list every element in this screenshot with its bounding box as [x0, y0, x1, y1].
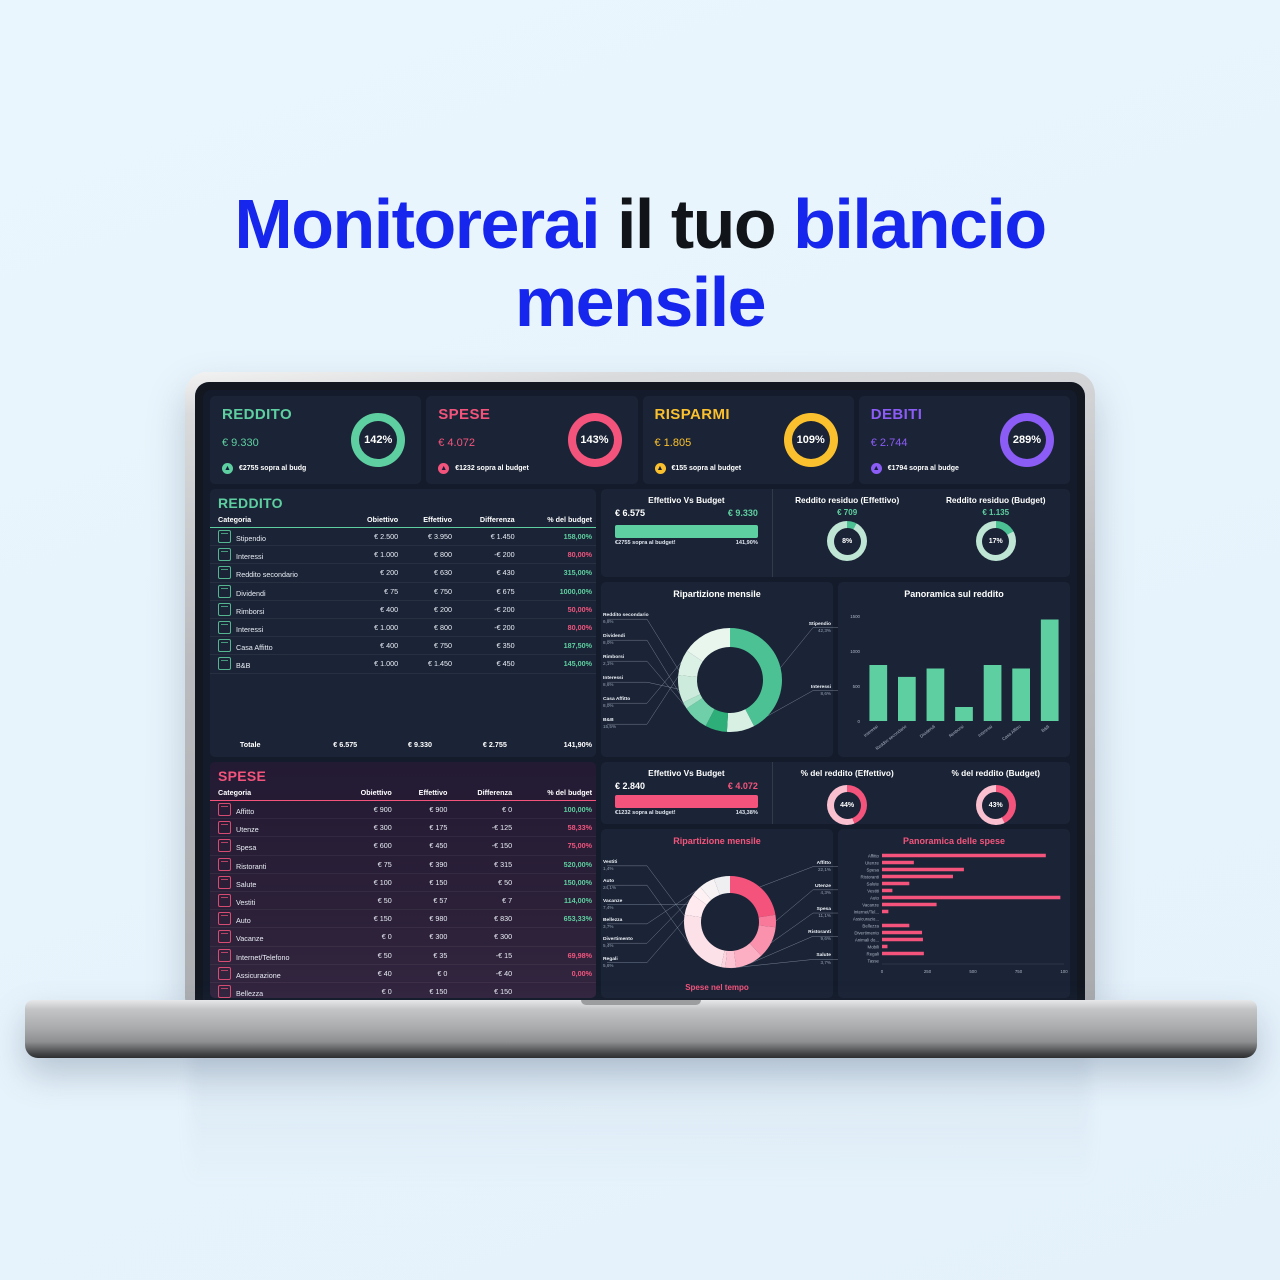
row-obiettivo: € 50: [336, 891, 395, 909]
laptop-lid: REDDITO€ 9.330▲€2755 sopra al budg142%SP…: [185, 372, 1095, 1004]
row-effettivo: € 1.450: [402, 655, 456, 673]
row-obiettivo: € 400: [345, 600, 402, 618]
category-icon: [218, 930, 231, 943]
row-category: Casa Affitto: [210, 637, 345, 655]
row-obiettivo: € 100: [336, 873, 395, 891]
row-differenza: -€ 40: [451, 964, 516, 982]
col-header: Differenza: [451, 786, 516, 801]
category-icon: [218, 949, 231, 962]
table-row[interactable]: Casa Affitto€ 400€ 750€ 350187,50%: [210, 637, 596, 655]
expense-section-title: SPESE: [210, 762, 596, 786]
arrow-up-icon: ▲: [871, 463, 882, 474]
residual-actual-donut: 8%: [827, 521, 867, 561]
row-differenza: € 7: [451, 891, 516, 909]
svg-text:Rimborsi: Rimborsi: [948, 724, 965, 739]
row-category: Auto: [210, 910, 336, 928]
row-category: Interessi: [210, 618, 345, 636]
category-icon: [218, 985, 231, 998]
kpi-donut: 289%: [1000, 413, 1054, 467]
row-effettivo: € 900: [396, 801, 452, 819]
income-bars-title: Panoramica sul reddito: [838, 582, 1070, 601]
pie-callout: Salute3,7%: [816, 953, 831, 965]
col-header: Obiettivo: [336, 786, 395, 801]
category-icon: [218, 821, 231, 834]
pie-callout: Vestiti1,4%: [603, 860, 617, 872]
total-differenza: € 2.755: [436, 738, 511, 751]
row-obiettivo: € 2.500: [345, 528, 402, 546]
row-differenza: -€ 200: [456, 618, 519, 636]
row-category: Reddito secondario: [210, 564, 345, 582]
row-effettivo: € 150: [396, 873, 452, 891]
kpi-card-risparmi[interactable]: RISPARMI€ 1.805▲€155 sopra al budget109%: [643, 396, 854, 484]
table-row[interactable]: Vacanze€ 0€ 300€ 300: [210, 928, 596, 946]
row-effettivo: € 750: [402, 637, 456, 655]
total-percent: 141,90%: [511, 738, 596, 751]
arrow-up-icon: ▲: [222, 463, 233, 474]
row-effettivo: € 0: [396, 964, 452, 982]
expense-evb-bar: [615, 795, 758, 808]
expense-evb-note: €1232 sopra al budget!: [615, 810, 676, 816]
table-row[interactable]: Spesa€ 600€ 450-€ 15075,00%: [210, 837, 596, 855]
row-effettivo: € 800: [402, 546, 456, 564]
svg-text:0: 0: [858, 719, 861, 724]
row-differenza: € 300: [451, 928, 516, 946]
income-evb-bar-fill: [615, 525, 758, 538]
row-obiettivo: € 0: [336, 982, 395, 1000]
row-category: Rimborsi: [210, 600, 345, 618]
expense-footer-note: Spese nel tempo: [601, 978, 833, 996]
income-section-title: REDDITO: [210, 489, 596, 513]
table-row[interactable]: B&B€ 1.000€ 1.450€ 450145,00%: [210, 655, 596, 673]
pct-income-budget-donut: 43%: [976, 785, 1016, 825]
income-evb-pct: 141,90%: [736, 540, 758, 546]
total-effettivo: € 9.330: [361, 738, 436, 751]
row-effettivo: € 200: [402, 600, 456, 618]
kpi-note: €155 sopra al budget: [672, 465, 742, 472]
row-differenza: € 350: [456, 637, 519, 655]
table-row[interactable]: Dividendi€ 75€ 750€ 6751000,00%: [210, 582, 596, 600]
residual-budget-donut: 17%: [976, 521, 1016, 561]
row-percent: 80,00%: [519, 546, 596, 564]
pie-callout: Utenze4,3%: [815, 884, 831, 896]
row-percent: 315,00%: [519, 564, 596, 582]
kpi-note: €1794 sopra al budge: [888, 465, 959, 472]
income-table: CategoriaObiettivoEffettivoDifferenza% d…: [210, 513, 596, 674]
income-donut-panel: Ripartizione mensile Reddito secondario6…: [601, 582, 833, 757]
row-differenza: € 50: [451, 873, 516, 891]
row-category: Bellezza: [210, 982, 336, 1000]
row-category: Stipendio: [210, 528, 345, 546]
expense-evb-actual: € 4.072: [728, 781, 758, 791]
pie-callout: Bellezza3,7%: [603, 918, 622, 930]
pct-income-actual-percent: 44%: [834, 792, 861, 819]
row-effettivo: € 450: [396, 837, 452, 855]
pie-callout: Regali5,6%: [603, 957, 618, 969]
pie-callout: Stipendio42,3%: [809, 622, 831, 634]
row-differenza: -€ 200: [456, 546, 519, 564]
headline-part-2: il tuo: [617, 185, 793, 263]
svg-text:Spesa: Spesa: [867, 867, 880, 872]
income-residual-budget-card: Reddito residuo (Budget) € 1.135 17%: [921, 489, 1070, 577]
headline-part-1: Monitorerai: [234, 185, 617, 263]
svg-text:0: 0: [881, 969, 884, 974]
expense-table-body: Affitto€ 900€ 900€ 0100,00%Utenze€ 300€ …: [210, 801, 596, 1005]
row-obiettivo: € 300: [336, 819, 395, 837]
income-total-table: Totale€ 6.575€ 9.330€ 2.755141,90%: [210, 738, 596, 751]
residual-budget-value: € 1.135: [921, 508, 1070, 517]
svg-text:500: 500: [853, 684, 861, 689]
col-header: Categoria: [210, 513, 345, 528]
income-residual-actual-card: Reddito residuo (Effettivo) € 709 8%: [773, 489, 922, 577]
row-effettivo: € 175: [396, 819, 452, 837]
category-icon: [218, 803, 231, 816]
category-icon: [218, 894, 231, 907]
svg-text:1500: 1500: [850, 614, 860, 619]
row-category: Ristoranti: [210, 855, 336, 873]
table-row[interactable]: Bellezza€ 0€ 150€ 150: [210, 982, 596, 1000]
pct-income-actual-title: % del reddito (Effettivo): [773, 762, 922, 781]
total-obiettivo: € 6.575: [286, 738, 361, 751]
kpi-donut: 142%: [351, 413, 405, 467]
table-row[interactable]: Assicurazione€ 40€ 0-€ 400,00%: [210, 964, 596, 982]
expense-evb-card: Effettivo Vs Budget € 2.840 € 4.072: [601, 762, 772, 824]
dashboard-screen: REDDITO€ 9.330▲€2755 sopra al budg142%SP…: [203, 390, 1077, 1004]
category-icon: [218, 657, 231, 670]
table-row[interactable]: Ristoranti€ 75€ 390€ 315520,00%: [210, 855, 596, 873]
svg-text:Tasse: Tasse: [868, 958, 880, 963]
row-obiettivo: € 400: [345, 637, 402, 655]
page-headline: Monitorerai il tuo bilancio mensile: [0, 185, 1280, 342]
row-category: Utenze: [210, 819, 336, 837]
row-percent: 653,33%: [516, 910, 596, 928]
svg-text:Animali do...: Animali do...: [855, 937, 879, 942]
expense-summary-panel: Effettivo Vs Budget € 2.840 € 4.072: [601, 762, 1070, 824]
category-icon: [218, 621, 231, 634]
pie-callout: Affitto22,1%: [817, 861, 831, 873]
row-differenza: € 1.450: [456, 528, 519, 546]
row-differenza: € 0: [451, 801, 516, 819]
table-row[interactable]: Salute€ 100€ 150€ 50150,00%: [210, 873, 596, 891]
income-evb-bar: [615, 525, 758, 538]
category-icon: [218, 585, 231, 598]
income-evb-title: Effettivo Vs Budget: [601, 489, 772, 508]
pie-callout: Spesa11,1%: [817, 907, 831, 919]
row-differenza: € 315: [451, 855, 516, 873]
kpi-percent: 143%: [576, 421, 614, 459]
income-evb-card: Effettivo Vs Budget € 6.575 € 9.330: [601, 489, 772, 577]
row-obiettivo: € 150: [336, 910, 395, 928]
table-row[interactable]: Interessi€ 1.000€ 800-€ 20080,00%: [210, 546, 596, 564]
pie-callout: Casa Affitto8,0%: [603, 697, 630, 709]
income-table-body: Stipendio€ 2.500€ 3.950€ 1.450158,00%Int…: [210, 528, 596, 674]
expense-evb-budget: € 2.840: [615, 781, 645, 791]
table-row[interactable]: Stipendio€ 2.500€ 3.950€ 1.450158,00%: [210, 528, 596, 546]
income-donut-title: Ripartizione mensile: [601, 582, 833, 601]
svg-text:Ristoranti: Ristoranti: [860, 874, 879, 879]
row-differenza: € 830: [451, 910, 516, 928]
svg-text:750: 750: [1015, 969, 1023, 974]
kpi-percent: 142%: [359, 421, 397, 459]
pie-callout: Rimborsi2,1%: [603, 655, 624, 667]
income-table-header: CategoriaObiettivoEffettivoDifferenza% d…: [210, 513, 596, 528]
row-category: Spesa: [210, 837, 336, 855]
row-obiettivo: € 1.000: [345, 618, 402, 636]
expense-pct-actual-card: % del reddito (Effettivo) 44%: [773, 762, 922, 824]
row-percent: 75,00%: [516, 837, 596, 855]
row-obiettivo: € 900: [336, 801, 395, 819]
kpi-percent: 109%: [792, 421, 830, 459]
svg-text:Auto: Auto: [870, 895, 880, 900]
row-differenza: -€ 15: [451, 946, 516, 964]
row-obiettivo: € 50: [336, 946, 395, 964]
arrow-up-icon: ▲: [438, 463, 449, 474]
income-block: REDDITO CategoriaObiettivoEffettivoDiffe…: [210, 489, 1070, 757]
table-row[interactable]: Affitto€ 900€ 900€ 0100,00%: [210, 801, 596, 819]
table-row[interactable]: Auto€ 150€ 980€ 830653,33%: [210, 910, 596, 928]
col-header: Differenza: [456, 513, 519, 528]
total-label: Totale: [210, 738, 286, 751]
laptop-base: [25, 1000, 1257, 1058]
category-icon: [218, 967, 231, 980]
row-differenza: -€ 200: [456, 600, 519, 618]
row-percent: 187,50%: [519, 637, 596, 655]
svg-text:Bellezza: Bellezza: [862, 923, 879, 928]
income-donut-chart: Reddito secondario6,8%Dividendi8,0%Rimbo…: [601, 601, 833, 751]
pie-callout: Interessi8,6%: [603, 676, 623, 688]
income-bars-panel: Panoramica sul reddito 050010001500Inter…: [838, 582, 1070, 757]
row-percent: 145,00%: [519, 655, 596, 673]
svg-text:Vacanze: Vacanze: [862, 902, 879, 907]
row-percent: 50,00%: [519, 600, 596, 618]
row-category: Vestiti: [210, 891, 336, 909]
category-icon: [218, 839, 231, 852]
row-percent: 150,00%: [516, 873, 596, 891]
row-obiettivo: € 600: [336, 837, 395, 855]
income-evb-budget: € 6.575: [615, 508, 645, 518]
headline-part-3: bilancio: [793, 185, 1045, 263]
row-effettivo: € 150: [396, 982, 452, 1000]
kpi-row: REDDITO€ 9.330▲€2755 sopra al budg142%SP…: [210, 396, 1070, 484]
residual-actual-title: Reddito residuo (Effettivo): [773, 489, 922, 508]
pct-income-budget-percent: 43%: [982, 792, 1009, 819]
col-header: % del budget: [516, 786, 596, 801]
expense-evb-pct: 143,38%: [736, 810, 758, 816]
svg-text:Internet/Tel...: Internet/Tel...: [854, 909, 879, 914]
expense-table-panel: SPESE CategoriaObiettivoEffettivoDiffere…: [210, 762, 596, 998]
row-percent: 80,00%: [519, 618, 596, 636]
col-header: % del budget: [519, 513, 596, 528]
row-effettivo: € 390: [396, 855, 452, 873]
kpi-card-reddito[interactable]: REDDITO€ 9.330▲€2755 sopra al budg142%: [210, 396, 421, 484]
residual-actual-percent: 8%: [834, 528, 861, 555]
svg-text:Divertimento: Divertimento: [854, 930, 879, 935]
arrow-up-icon: ▲: [655, 463, 666, 474]
pct-income-actual-donut: 44%: [827, 785, 867, 825]
category-icon: [218, 912, 231, 925]
expense-evb-title: Effettivo Vs Budget: [601, 762, 772, 781]
expense-donut-panel: Ripartizione mensile Vestiti1,4%Auto24,1…: [601, 829, 833, 998]
category-icon: [218, 603, 231, 616]
row-differenza: € 150: [451, 982, 516, 1000]
row-effettivo: € 980: [396, 910, 452, 928]
category-icon: [218, 566, 231, 579]
svg-text:Utenze: Utenze: [865, 860, 879, 865]
residual-actual-value: € 709: [773, 508, 922, 517]
pie-callout: B&B15,5%: [603, 718, 616, 730]
row-percent: 58,33%: [516, 819, 596, 837]
col-header: Effettivo: [402, 513, 456, 528]
pie-callout: Ristoranti9,6%: [808, 930, 831, 942]
row-obiettivo: € 75: [345, 582, 402, 600]
svg-text:Casa Affitto: Casa Affitto: [1001, 724, 1022, 742]
table-row[interactable]: Utenze€ 300€ 175-€ 12558,33%: [210, 819, 596, 837]
col-header: Obiettivo: [345, 513, 402, 528]
residual-budget-title: Reddito residuo (Budget): [921, 489, 1070, 508]
svg-text:250: 250: [924, 969, 932, 974]
row-category: Internet/Telefono: [210, 946, 336, 964]
category-icon: [218, 639, 231, 652]
income-evb-note: €2755 sopra al budget!: [615, 540, 676, 546]
pie-callout: Auto24,1%: [603, 879, 616, 891]
category-icon: [218, 876, 231, 889]
row-differenza: -€ 150: [451, 837, 516, 855]
screen-bezel: REDDITO€ 9.330▲€2755 sopra al budg142%SP…: [195, 382, 1085, 1004]
svg-text:500: 500: [969, 969, 977, 974]
headline-line-2: mensile: [515, 263, 765, 341]
row-differenza: -€ 125: [451, 819, 516, 837]
kpi-donut: 143%: [568, 413, 622, 467]
svg-text:Salute: Salute: [867, 881, 880, 886]
row-effettivo: € 35: [396, 946, 452, 964]
expense-table: CategoriaObiettivoEffettivoDifferenza% d…: [210, 786, 596, 1004]
pct-income-budget-title: % del reddito (Budget): [921, 762, 1070, 781]
row-differenza: € 675: [456, 582, 519, 600]
table-row[interactable]: Reddito secondario€ 200€ 630€ 430315,00%: [210, 564, 596, 582]
table-row[interactable]: Interessi€ 1.000€ 800-€ 20080,00%: [210, 618, 596, 636]
svg-text:Reddito secondario: Reddito secondario: [875, 724, 908, 751]
pie-callout: Interessi8,6%: [811, 685, 831, 697]
table-row[interactable]: Internet/Telefono€ 50€ 35-€ 1569,98%: [210, 946, 596, 964]
svg-text:Mobili: Mobili: [868, 944, 879, 949]
income-table-panel: REDDITO CategoriaObiettivoEffettivoDiffe…: [210, 489, 596, 757]
row-percent: [516, 928, 596, 946]
kpi-card-debiti[interactable]: DEBITI€ 2.744▲€1794 sopra al budge289%: [859, 396, 1070, 484]
expense-hbars-title: Panoramica delle spese: [838, 829, 1070, 848]
expense-hbars-panel: Panoramica delle spese 0250500750100Affi…: [838, 829, 1070, 998]
pie-callout: Reddito secondario6,8%: [603, 613, 649, 625]
svg-text:Dividendi: Dividendi: [919, 724, 936, 739]
row-percent: [516, 982, 596, 1000]
svg-text:B&B: B&B: [1040, 724, 1050, 733]
income-summary-panel: Effettivo Vs Budget € 6.575 € 9.330: [601, 489, 1070, 577]
row-category: Salute: [210, 873, 336, 891]
row-percent: 1000,00%: [519, 582, 596, 600]
row-effettivo: € 300: [396, 928, 452, 946]
expense-donut-title: Ripartizione mensile: [601, 829, 833, 848]
svg-text:1000: 1000: [850, 649, 860, 654]
expense-donut-chart: Vestiti1,4%Auto24,1%Vacanze7,4%Bellezza3…: [601, 848, 833, 988]
pie-callout: Vacanze7,4%: [603, 899, 622, 911]
row-percent: 114,00%: [516, 891, 596, 909]
row-effettivo: € 3.950: [402, 528, 456, 546]
row-differenza: € 430: [456, 564, 519, 582]
row-effettivo: € 630: [402, 564, 456, 582]
svg-text:100: 100: [1060, 969, 1068, 974]
col-header: Categoria: [210, 786, 336, 801]
category-icon: [218, 858, 231, 871]
row-category: Vacanze: [210, 928, 336, 946]
row-obiettivo: € 200: [345, 564, 402, 582]
expense-evb-bar-fill: [615, 795, 758, 808]
category-icon: [218, 530, 231, 543]
kpi-percent: 289%: [1008, 421, 1046, 459]
table-row[interactable]: Vestiti€ 50€ 57€ 7114,00%: [210, 891, 596, 909]
row-category: Affitto: [210, 801, 336, 819]
kpi-donut: 109%: [784, 413, 838, 467]
svg-text:Vestiti: Vestiti: [867, 888, 879, 893]
row-differenza: € 450: [456, 655, 519, 673]
laptop-mockup: REDDITO€ 9.330▲€2755 sopra al budg142%SP…: [185, 372, 1095, 1004]
svg-text:Assicurazio...: Assicurazio...: [853, 916, 879, 921]
row-category: Interessi: [210, 546, 345, 564]
svg-text:Interessi: Interessi: [977, 724, 993, 738]
row-percent: 69,98%: [516, 946, 596, 964]
row-effettivo: € 57: [396, 891, 452, 909]
row-obiettivo: € 40: [336, 964, 395, 982]
category-icon: [218, 548, 231, 561]
income-evb-actual: € 9.330: [728, 508, 758, 518]
row-effettivo: € 800: [402, 618, 456, 636]
row-obiettivo: € 1.000: [345, 546, 402, 564]
row-percent: 520,00%: [516, 855, 596, 873]
row-percent: 0,00%: [516, 964, 596, 982]
col-header: Effettivo: [396, 786, 452, 801]
svg-text:Affitto: Affitto: [868, 853, 880, 858]
kpi-card-spese[interactable]: SPESE€ 4.072▲€1232 sopra al budget143%: [426, 396, 637, 484]
kpi-note: €2755 sopra al budg: [239, 465, 306, 472]
residual-budget-percent: 17%: [982, 528, 1009, 555]
pie-callout: Divertimento5,4%: [603, 937, 633, 949]
row-percent: 158,00%: [519, 528, 596, 546]
pie-callout: Dividendi8,0%: [603, 634, 625, 646]
row-category: Assicurazione: [210, 964, 336, 982]
svg-text:Regali: Regali: [867, 951, 879, 956]
income-total-row: Totale€ 6.575€ 9.330€ 2.755141,90%: [210, 738, 596, 751]
svg-text:Interessi: Interessi: [863, 724, 879, 738]
row-effettivo: € 750: [402, 582, 456, 600]
row-obiettivo: € 1.000: [345, 655, 402, 673]
row-obiettivo: € 0: [336, 928, 395, 946]
expense-block: SPESE CategoriaObiettivoEffettivoDiffere…: [210, 762, 1070, 998]
expense-hbar-chart: 0250500750100AffittoUtenzeSpesaRistorant…: [838, 848, 1070, 983]
expense-pct-budget-card: % del reddito (Budget) 43%: [921, 762, 1070, 824]
row-obiettivo: € 75: [336, 855, 395, 873]
income-bar-chart: 050010001500InteressiReddito secondarioD…: [838, 601, 1070, 756]
table-row[interactable]: Rimborsi€ 400€ 200-€ 20050,00%: [210, 600, 596, 618]
expense-table-header: CategoriaObiettivoEffettivoDifferenza% d…: [210, 786, 596, 801]
row-percent: 100,00%: [516, 801, 596, 819]
row-category: B&B: [210, 655, 345, 673]
kpi-note: €1232 sopra al budget: [455, 465, 529, 472]
row-category: Dividendi: [210, 582, 345, 600]
